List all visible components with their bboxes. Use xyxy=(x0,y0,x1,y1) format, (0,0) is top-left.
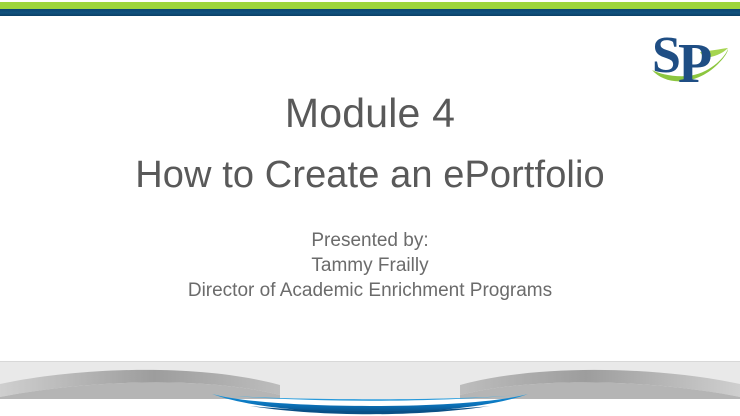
slide-title: Module 4 xyxy=(0,90,740,137)
presenter-block: Presented by: Tammy Frailly Director of … xyxy=(0,228,740,303)
logo-letter-p: P xyxy=(678,33,712,90)
sp-monogram-icon: S P xyxy=(648,26,730,90)
presenter-role: Director of Academic Enrichment Programs xyxy=(0,278,740,303)
sp-logo: S P xyxy=(648,26,730,90)
footer-decoration xyxy=(0,361,740,416)
presented-by-label: Presented by: xyxy=(0,228,740,253)
top-accent-bar-green xyxy=(0,2,740,9)
footer-wave-svg xyxy=(0,361,740,416)
top-accent-bar-navy xyxy=(0,9,740,16)
presenter-name: Tammy Frailly xyxy=(0,253,740,278)
slide-subtitle: How to Create an ePortfolio xyxy=(0,154,740,198)
presentation-slide: S P Module 4 How to Create an ePortfolio… xyxy=(0,0,740,416)
logo-letter-s: S xyxy=(652,27,681,84)
